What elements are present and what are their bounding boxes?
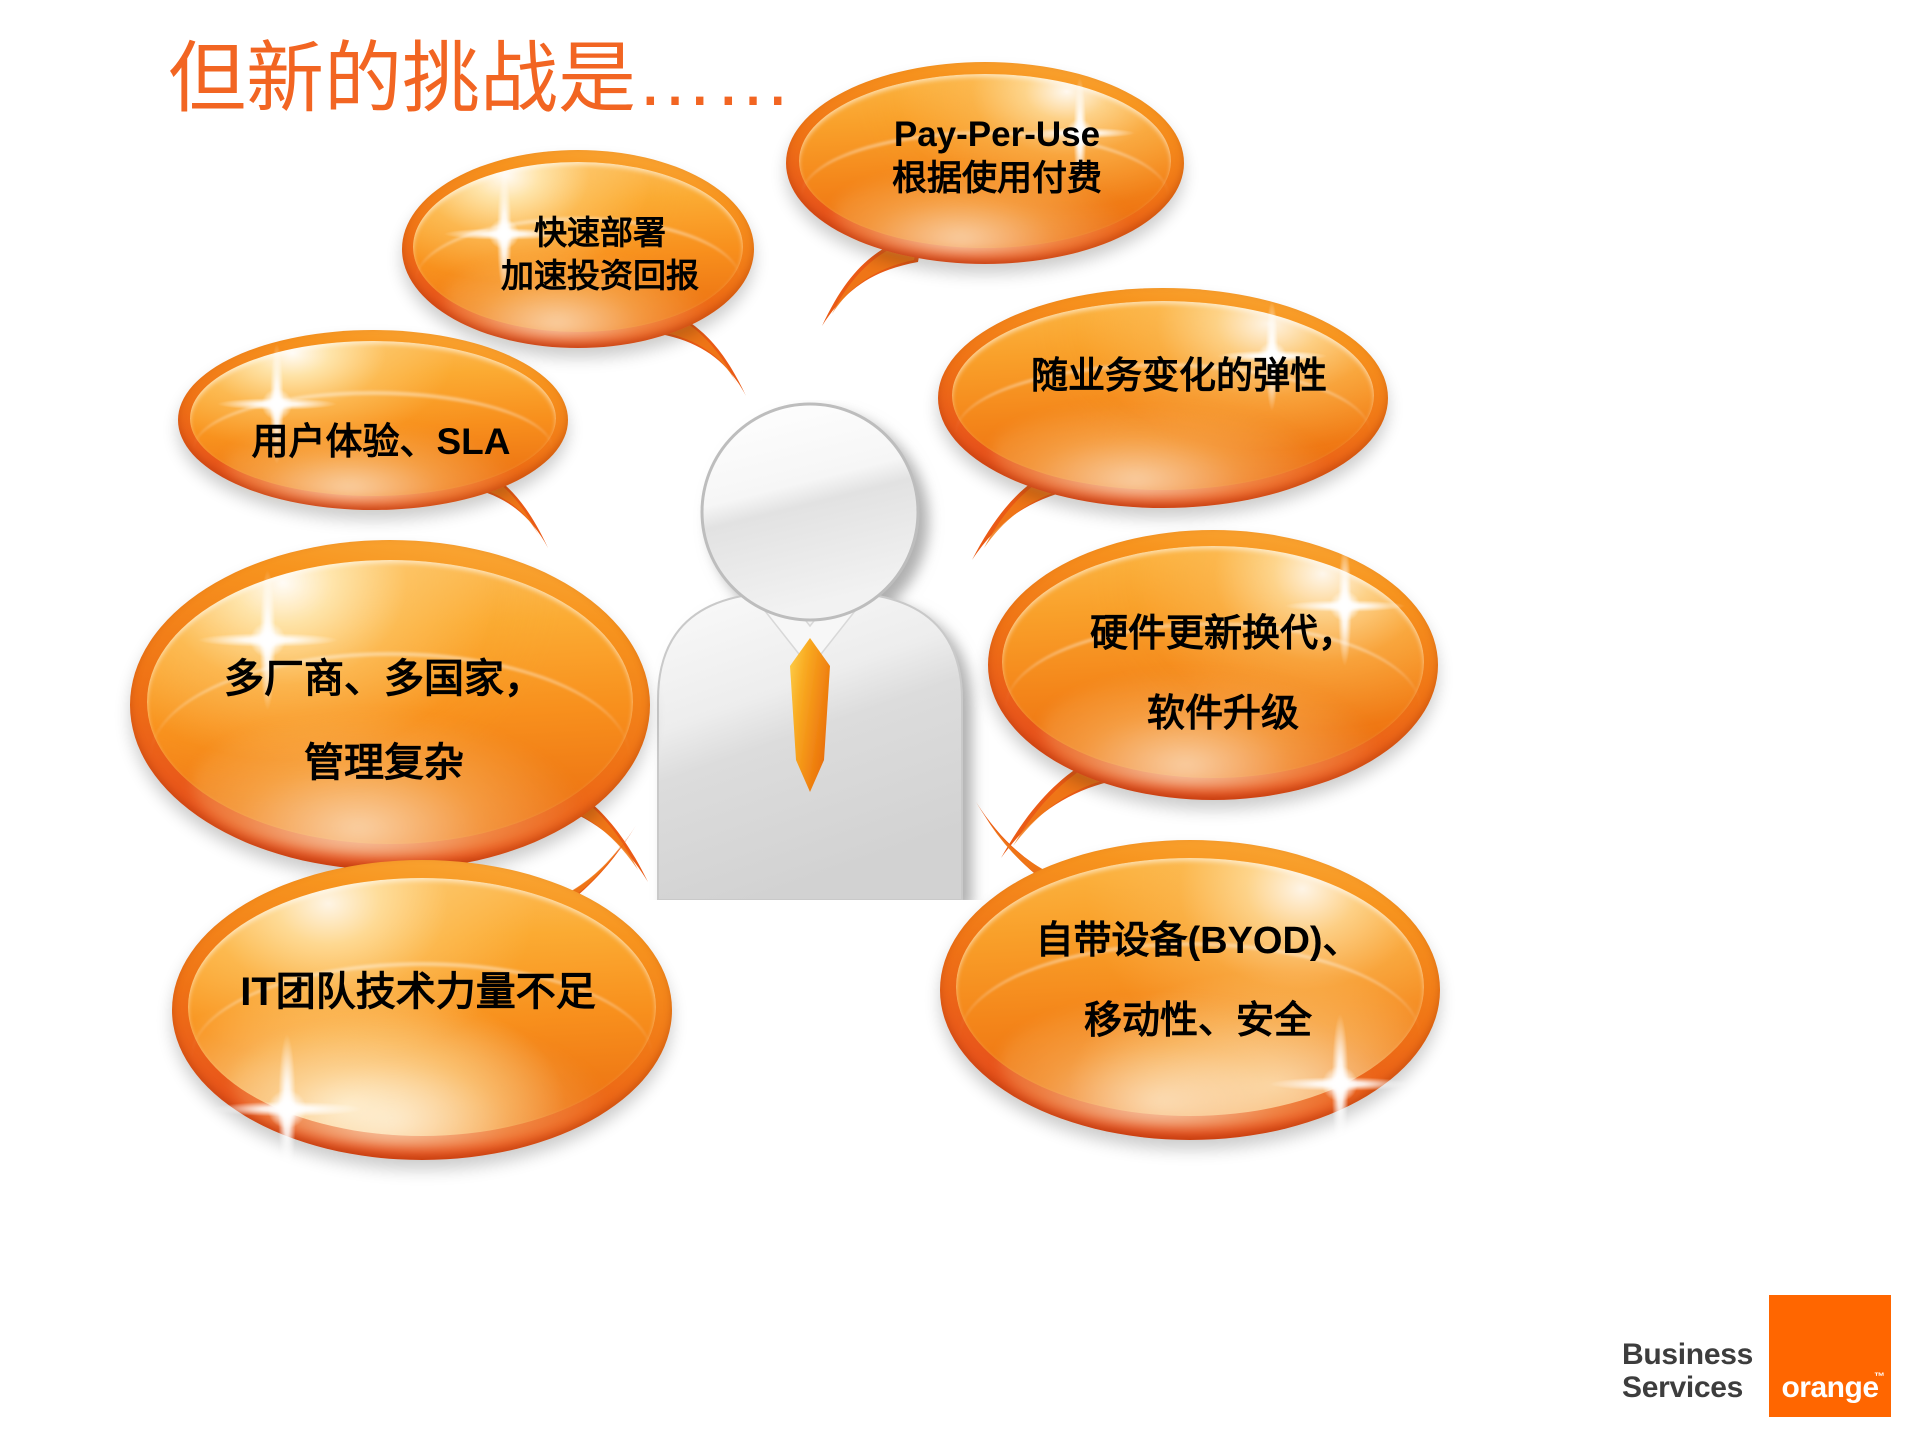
bubble-label: 随业务变化的弹性: [1004, 354, 1354, 398]
bubble-pay-per-use[interactable]: Pay-Per-Use 根据使用付费: [786, 62, 1184, 264]
bubble-label: 多厂商、多国家， 管理复杂: [193, 658, 575, 784]
orange-logo: orange ™: [1769, 1295, 1891, 1417]
bubble-label: Pay-Per-Use 根据使用付费: [868, 113, 1126, 201]
business-line-2: Services: [1622, 1371, 1753, 1405]
page-title: 但新的挑战是……: [168, 38, 792, 120]
bubble-label: 自带设备(BYOD)、 移动性、安全: [1005, 922, 1390, 1042]
bubble-byod-mobility-security[interactable]: 自带设备(BYOD)、 移动性、安全: [940, 840, 1440, 1140]
bubble-label: 快速部署 加速投资回报: [480, 212, 720, 298]
business-line-1: Business: [1622, 1338, 1753, 1372]
brand-block: Business Services orange ™: [1622, 1295, 1891, 1417]
bubble-business-elasticity[interactable]: 随业务变化的弹性: [938, 288, 1388, 508]
trademark-symbol: ™: [1874, 1371, 1885, 1383]
bubble-face: [190, 341, 555, 496]
bubble-label: IT团队技术力量不足: [210, 968, 626, 1016]
bubble-fast-deploy[interactable]: 快速部署 加速投资回报: [402, 150, 754, 348]
bubble-label: 硬件更新换代， 软件升级: [1063, 615, 1383, 735]
bubble-label: 用户体验、SLA: [228, 420, 534, 464]
orange-wordmark: orange: [1769, 1371, 1891, 1405]
bubble-hardware-refresh[interactable]: 硬件更新换代， 软件升级: [988, 530, 1438, 800]
bubble-user-experience-sla[interactable]: 用户体验、SLA: [178, 330, 568, 510]
bubble-it-team-capability[interactable]: IT团队技术力量不足: [172, 860, 672, 1160]
business-services-label: Business Services: [1622, 1338, 1753, 1405]
bubble-multi-vendor[interactable]: 多厂商、多国家， 管理复杂: [130, 540, 650, 870]
business-person-avatar: [630, 400, 990, 900]
